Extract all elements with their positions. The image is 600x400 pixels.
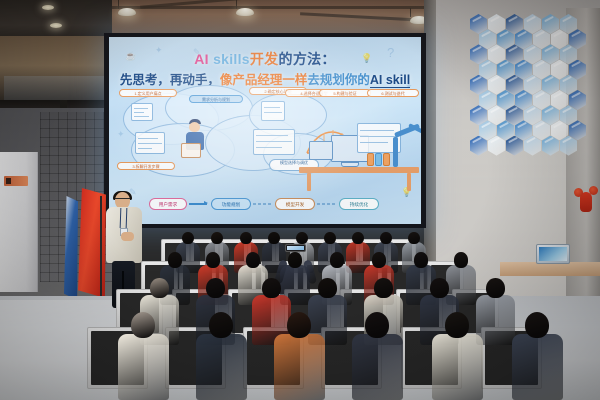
audience-head (445, 312, 469, 338)
audience-head (324, 232, 335, 244)
subtitle-part2: 像产品经理一样 (220, 73, 308, 87)
audience-torso (274, 334, 325, 400)
illustration-card (261, 101, 285, 121)
cloud-label-1: 1.定义用户痛点 (119, 89, 177, 97)
audience-head (240, 232, 251, 244)
desk-illustration (299, 167, 419, 173)
monitor-illustration (309, 141, 333, 160)
audience-head (414, 252, 429, 268)
center-note-label: 需求分析与规划 (189, 95, 243, 103)
audience-member (274, 312, 325, 400)
audience-head (430, 278, 448, 298)
audience-head (288, 252, 303, 268)
lobster-mascot (574, 186, 598, 216)
illustration-box (367, 153, 374, 166)
illustration-tablet (181, 143, 201, 158)
flow-step-1: 用户需求 (149, 198, 187, 210)
audience-torso (118, 334, 169, 400)
hexagonal-tile-wall (470, 14, 578, 200)
subtitle-part3: 去规划你的 (307, 73, 370, 87)
audience-head (246, 252, 261, 268)
audience-torso (352, 334, 403, 400)
audience-head (182, 232, 193, 244)
audience-head (268, 232, 279, 244)
projection-screen[interactable]: ☕ ✦ ✎ 💡 ? ✦ ✎ 💡 ✦ AI skills开发的方法： 先思考，再动… (109, 37, 421, 224)
flow-connector (253, 203, 271, 205)
presenter-hands (121, 232, 134, 241)
flow-step-2: 功能规划 (211, 198, 251, 210)
desk-leg (307, 173, 311, 191)
recessed-light (42, 5, 54, 10)
audience-head (168, 252, 183, 268)
cloud-label-5: 5.构建与验证 (319, 89, 371, 97)
illustration-box (383, 153, 390, 166)
flow-connector (317, 203, 335, 205)
laptop[interactable] (536, 244, 570, 264)
audience-head (296, 232, 307, 244)
audience-head (150, 278, 168, 298)
process-flow: 用户需求 功能规划 模型开发 持续优化 (149, 198, 389, 211)
smartphone[interactable] (285, 244, 306, 252)
audience-member (196, 312, 247, 400)
flow-step-3: 模型开发 (275, 198, 315, 210)
subtitle-part4: AI skill (370, 73, 410, 88)
presenter-glasses (115, 198, 130, 201)
illustration-box (375, 153, 382, 166)
audience-torso (512, 334, 563, 400)
cloud-label-3: 3.拆解开发步骤 (117, 162, 175, 170)
audience-head (525, 312, 549, 338)
flow-step-4: 持续优化 (339, 198, 379, 210)
slide-subtitle: 先思考，再动手，像产品经理一样去规划你的AI skill (109, 69, 421, 88)
title-rest: 的方法： (279, 51, 336, 67)
cabinet-label (4, 176, 28, 186)
audience-head (330, 252, 345, 268)
audience-head (408, 232, 419, 244)
audience-member (118, 312, 169, 400)
audience-head (209, 312, 233, 338)
desk-leg (407, 173, 411, 191)
audience-member (432, 312, 483, 400)
projection-screen-frame: ☕ ✦ ✎ 💡 ? ✦ ✎ 💡 ✦ AI skills开发的方法： 先思考，再动… (104, 33, 426, 228)
audience-head (372, 252, 387, 268)
presenter-lanyard (120, 208, 128, 228)
audience-head (486, 278, 504, 298)
title-kaifa: 开发 (250, 51, 279, 67)
side-desk (500, 262, 600, 276)
illustration-card (253, 129, 295, 155)
audience-torso (196, 334, 247, 400)
audience-head (454, 252, 469, 268)
equipment-cabinet (0, 152, 38, 292)
audience-head (287, 312, 311, 338)
recessed-light (50, 23, 62, 28)
audience-member (352, 312, 403, 400)
audience-head (131, 312, 155, 338)
presentation-room-scene: ☕ ✦ ✎ 💡 ? ✦ ✎ 💡 ✦ AI skills开发的方法： 先思考，再动… (0, 0, 600, 400)
title-ai: AI (194, 51, 209, 67)
slide-title: AI skills开发的方法： (109, 49, 421, 69)
audience-head (380, 232, 391, 244)
audience-head (318, 278, 336, 298)
audience-head (352, 232, 363, 244)
audience-head (365, 312, 389, 338)
monitor-stand (341, 162, 359, 167)
audience-head (211, 232, 222, 244)
audience-head (206, 278, 224, 298)
laptop-screen (539, 247, 567, 261)
audience-head (262, 278, 280, 298)
audience-torso (432, 334, 483, 400)
flow-arrow (189, 203, 207, 205)
illustration-card (131, 103, 153, 121)
cloud-label-6: 6.测试与迭代 (367, 89, 419, 97)
audience-member (512, 312, 563, 400)
audience-head (206, 252, 221, 268)
mezzanine-structure (0, 36, 118, 110)
audience-head (374, 278, 392, 298)
banner-pole (100, 196, 102, 310)
illustration-card (135, 132, 165, 154)
title-skills: skills (209, 51, 250, 67)
robot-arm (393, 137, 398, 167)
